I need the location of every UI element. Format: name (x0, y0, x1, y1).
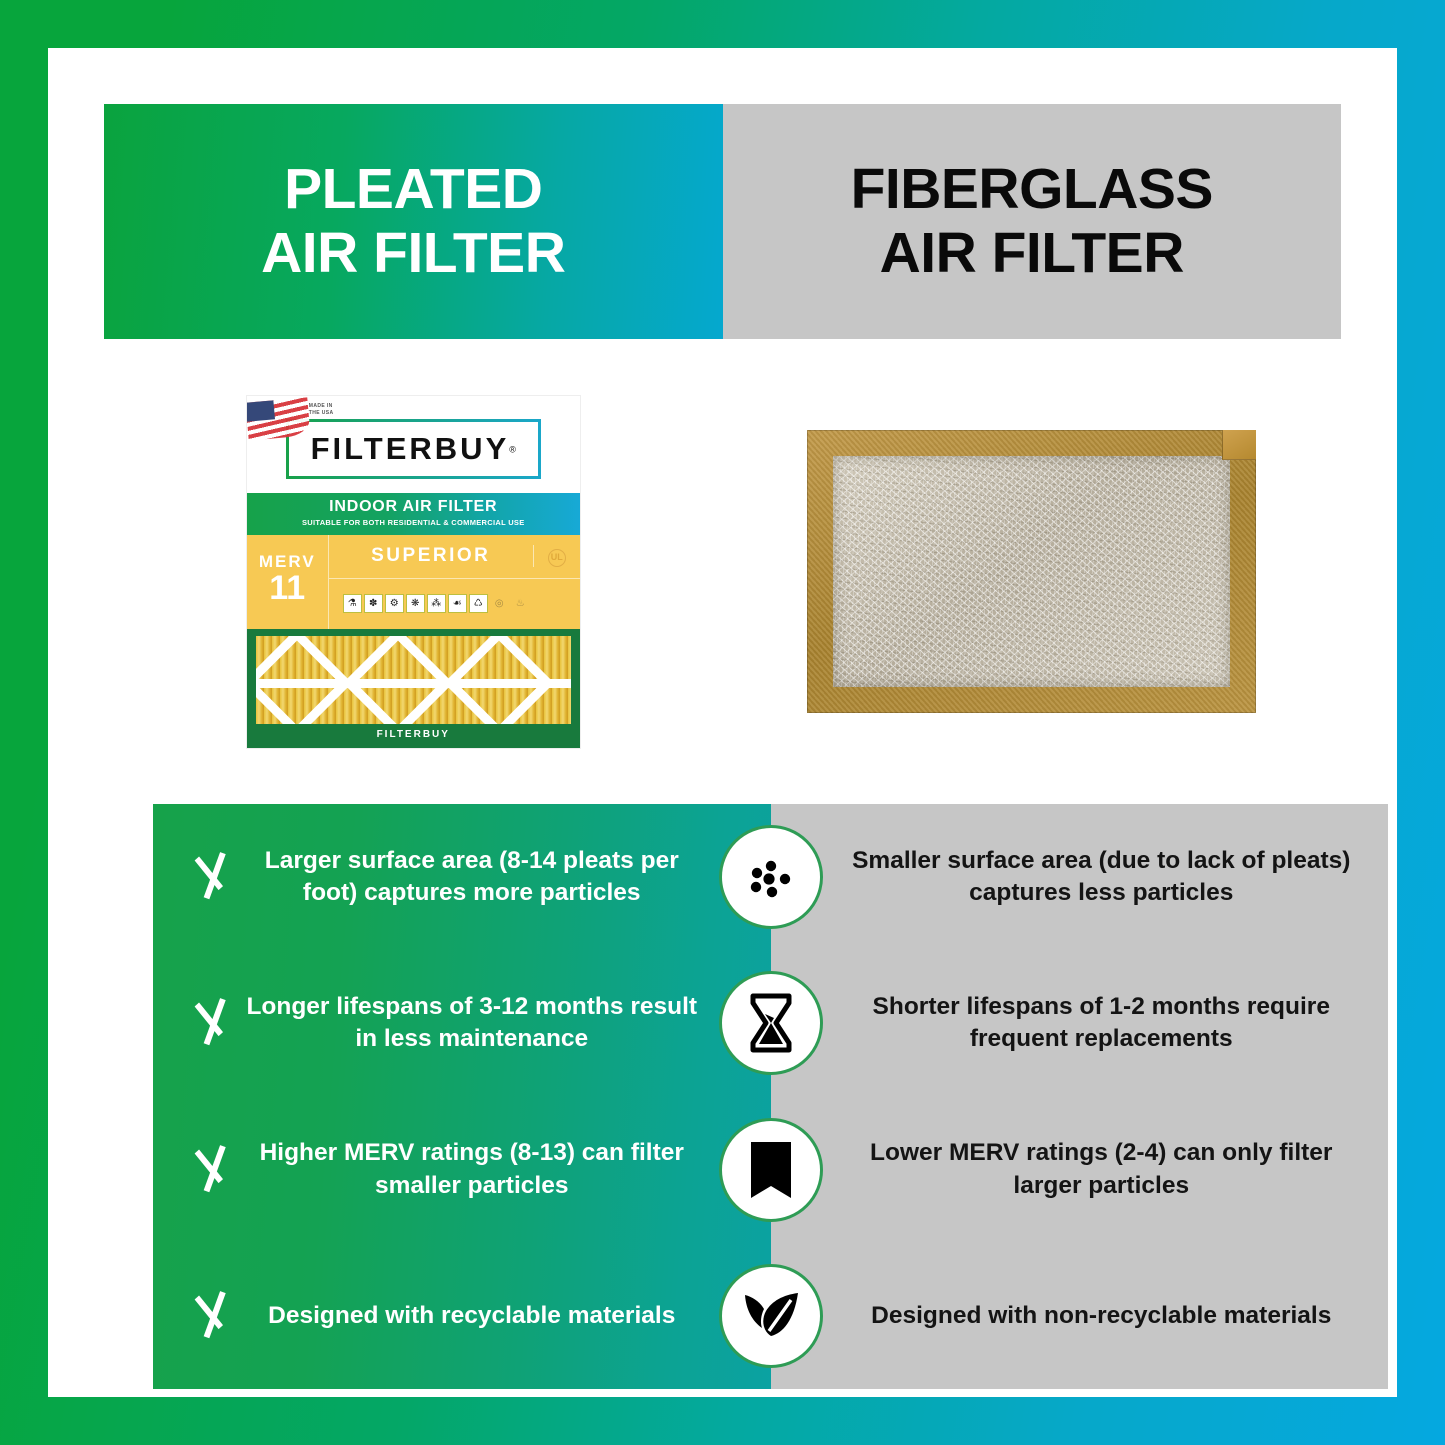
ul-certification-icon: UL (533, 545, 580, 567)
grade-label: SUPERIOR (329, 545, 533, 567)
pleated-benefit-cell: Higher MERV ratings (8-13) can filter sm… (153, 1137, 771, 1203)
cardboard-corner-tab (1222, 430, 1256, 460)
checkmark-icon (179, 844, 245, 910)
checkmark-icon (179, 1137, 245, 1203)
pills-icon: ◎ (490, 594, 509, 613)
registered-mark: ® (509, 445, 516, 455)
box-merv-section: MERV 11 SUPERIOR UL ⚗ (247, 535, 580, 629)
comparison-row: Higher MERV ratings (8-13) can filter sm… (153, 1097, 1388, 1243)
checkmark-icon (179, 1283, 245, 1349)
box-top-section: MADE IN THE USA FILTERBUY® (247, 396, 580, 493)
support-wire-diamond (343, 636, 453, 730)
filterbuy-box-image: MADE IN THE USA FILTERBUY® INDOOR AIR FI… (247, 396, 580, 748)
fiberglass-mesh (833, 456, 1230, 687)
pleated-benefit-text: Larger surface area (8-14 pleats per foo… (245, 845, 699, 910)
box-gradient-band: INDOOR AIR FILTER SUITABLE FOR BOTH RESI… (247, 493, 580, 535)
infographic-frame: PLEATED AIR FILTER FIBERGLASS AIR FILTER… (0, 0, 1445, 1445)
indoor-air-filter-label: INDOOR AIR FILTER (247, 498, 580, 516)
support-wire-diamond (256, 636, 352, 730)
pleated-product-cell: MADE IN THE USA FILTERBUY® INDOOR AIR FI… (104, 339, 723, 804)
box-subtitle: SUITABLE FOR BOTH RESIDENTIAL & COMMERCI… (247, 518, 580, 527)
comparison-rows: Larger surface area (8-14 pleats per foo… (153, 804, 1388, 1389)
fiberglass-drawback-text: Designed with non-recyclable materials (841, 1300, 1363, 1332)
header-band: PLEATED AIR FILTER FIBERGLASS AIR FILTER (104, 104, 1341, 339)
fiberglass-filter-image (807, 430, 1256, 713)
product-images-row: MADE IN THE USA FILTERBUY® INDOOR AIR FI… (104, 339, 1341, 804)
hourglass-icon (719, 971, 823, 1075)
fiberglass-drawback-text: Smaller surface area (due to lack of ple… (841, 845, 1363, 910)
fiberglass-drawback-text: Shorter lifespans of 1-2 months require … (841, 991, 1363, 1056)
checkmark-icon (179, 990, 245, 1056)
pleated-header-title: PLEATED AIR FILTER (261, 158, 565, 286)
box-footer-brand: FILTERBUY (247, 724, 580, 748)
brand-name: FILTERBUY (311, 431, 510, 466)
fiberglass-drawback-cell: Lower MERV ratings (2-4) can only filter… (771, 1137, 1389, 1202)
pleated-header: PLEATED AIR FILTER (104, 104, 723, 339)
pleated-benefit-text: Higher MERV ratings (8-13) can filter sm… (245, 1137, 699, 1202)
pleated-benefit-text: Designed with recyclable materials (245, 1300, 699, 1332)
fiberglass-product-cell (723, 339, 1342, 804)
dust-icon: ⚗ (343, 594, 362, 613)
fiberglass-drawback-cell: Shorter lifespans of 1-2 months require … (771, 991, 1389, 1056)
fiberglass-drawback-cell: Smaller surface area (due to lack of ple… (771, 845, 1389, 910)
pleated-benefit-cell: Designed with recyclable materials (153, 1283, 771, 1349)
support-wire-diamond (444, 636, 554, 730)
pleated-benefit-cell: Larger surface area (8-14 pleats per foo… (153, 844, 771, 910)
made-in-usa-label: MADE IN THE USA (309, 403, 334, 418)
comparison-row: Larger surface area (8-14 pleats per foo… (153, 804, 1388, 950)
mold-spores-icon: ❋ (406, 594, 425, 613)
dust-mite-icon: ✽ (364, 594, 383, 613)
grade-row: SUPERIOR UL (329, 535, 580, 579)
fiberglass-drawback-cell: Designed with non-recyclable materials (771, 1300, 1389, 1332)
smoke-icon: ♺ (469, 594, 488, 613)
pet-dander-icon: ☙ (448, 594, 467, 613)
pleated-benefit-cell: Longer lifespans of 3-12 months result i… (153, 990, 771, 1056)
odor-icon: ♨ (511, 594, 530, 613)
pleated-benefit-text: Longer lifespans of 3-12 months result i… (245, 991, 699, 1056)
comparison-table: Larger surface area (8-14 pleats per foo… (153, 804, 1388, 1389)
pleat-field (256, 636, 571, 730)
bookmark-icon (719, 1118, 823, 1222)
eco-leaf-icon (719, 1264, 823, 1368)
fiberglass-header: FIBERGLASS AIR FILTER (723, 104, 1342, 339)
pollen-icon: ⚙ (385, 594, 404, 613)
merv-block: MERV 11 (247, 535, 329, 629)
fiberglass-drawback-text: Lower MERV ratings (2-4) can only filter… (841, 1137, 1363, 1202)
comparison-row: Longer lifespans of 3-12 months result i… (153, 950, 1388, 1096)
box-grade-block: SUPERIOR UL ⚗ ✽ ⚙ ❋ ⁂ (329, 535, 580, 629)
merv-value: 11 (247, 572, 328, 604)
capture-icons-strip: ⚗ ✽ ⚙ ❋ ⁂ ☙ ♺ ◎ ♨ (329, 579, 580, 629)
ul-circle: UL (548, 549, 566, 567)
content-card: PLEATED AIR FILTER FIBERGLASS AIR FILTER… (48, 48, 1397, 1397)
fiberglass-header-title: FIBERGLASS AIR FILTER (851, 158, 1213, 286)
particles-icon (719, 825, 823, 929)
bacteria-icon: ⁂ (427, 594, 446, 613)
brand-plate: FILTERBUY® (286, 419, 541, 479)
comparison-row: Designed with recyclable materials Desig… (153, 1243, 1388, 1389)
